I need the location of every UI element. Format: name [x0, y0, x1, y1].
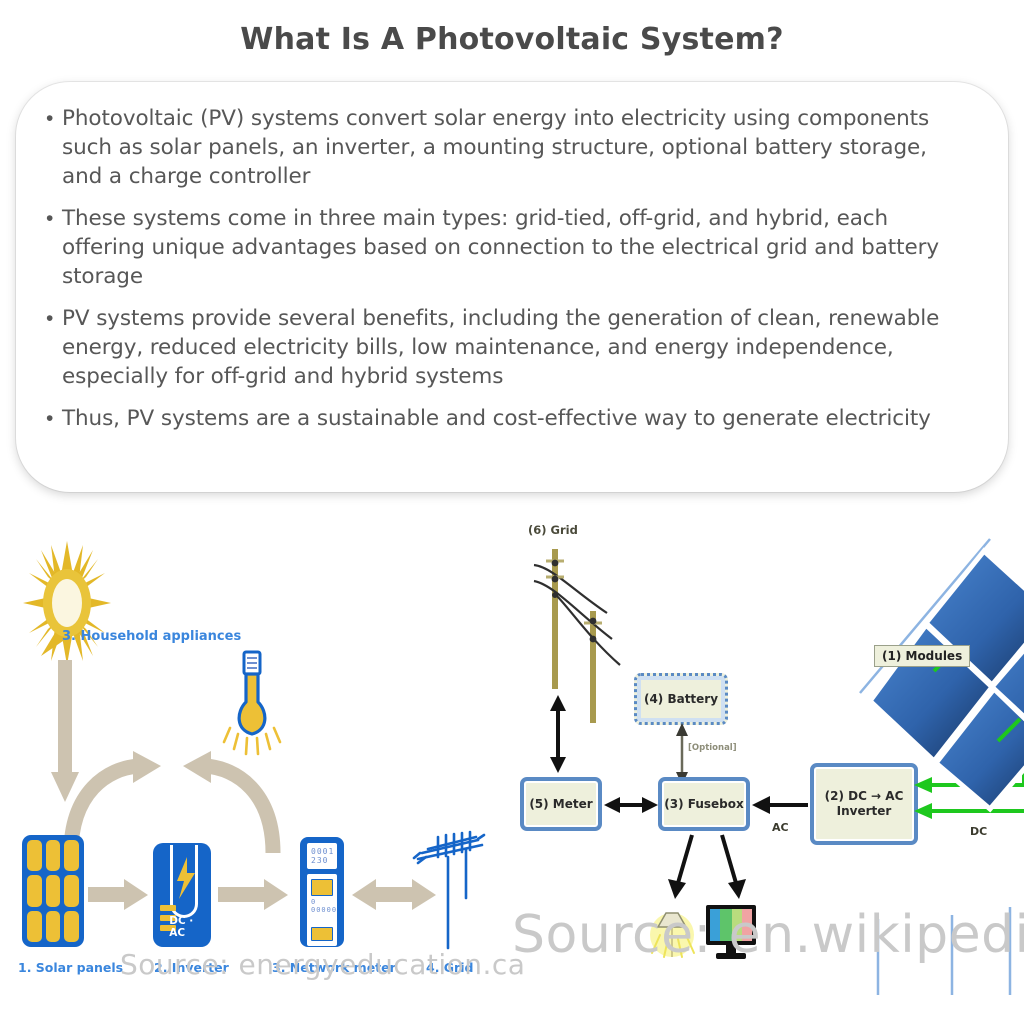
label-grid-node: (6) Grid: [528, 523, 578, 537]
panel-cell: [46, 840, 61, 871]
meter-block: [311, 927, 333, 941]
page-root: What Is A Photovoltaic System? • Photovo…: [0, 0, 1024, 1024]
list-item: • These systems come in three main types…: [46, 204, 972, 291]
panel-cell: [27, 875, 42, 906]
node-meter: (5) Meter: [520, 777, 602, 831]
bullet-marker: •: [46, 404, 62, 433]
bullet-marker: •: [46, 104, 62, 133]
battery-optional-arrow: [672, 723, 692, 785]
bullet-marker: •: [46, 204, 62, 233]
meter-fusebox-arrow: [604, 793, 658, 817]
grid-meter-arrow: [546, 695, 570, 775]
label-optional: [Optional]: [688, 743, 737, 753]
node-fusebox-label: (3) Fusebox: [664, 797, 744, 812]
panel-to-inverter-arrow: [88, 875, 150, 915]
utility-pole-icon: [512, 543, 642, 723]
label-modules: (1) Modules: [874, 645, 970, 667]
inverter-fusebox-arrow: [752, 793, 810, 817]
list-item: • PV systems provide several benefits, i…: [46, 304, 972, 391]
meter-body: 0 00000: [307, 874, 337, 946]
watermark-wikipedia: Source: en.wikipedia.org: [512, 905, 1024, 965]
inverter-dcac-text: DC · AC: [169, 915, 211, 939]
panel-cell: [27, 840, 42, 871]
meter-digits-secondary: 0 00000: [311, 898, 333, 914]
panel-cell: [64, 911, 79, 942]
bullet-marker: •: [46, 304, 62, 333]
watermark-energyeducation: Source: energyeducation.ca: [120, 948, 525, 981]
inverter-bar: [160, 905, 176, 911]
bullet-text: PV systems provide several benefits, inc…: [62, 304, 972, 391]
panel-cell: [64, 840, 79, 871]
node-battery: (4) Battery: [634, 673, 728, 725]
content-card: • Photovoltaic (PV) systems convert sola…: [16, 82, 1008, 492]
network-meter-icon: 0001 230 0 00000: [300, 837, 344, 947]
antenna-grid-icon: [408, 823, 488, 953]
node-fusebox: (3) Fusebox: [658, 777, 750, 831]
bullet-text: These systems come in three main types: …: [62, 204, 972, 291]
page-title: What Is A Photovoltaic System?: [0, 22, 1024, 57]
meter-display: 0001 230: [307, 843, 337, 869]
list-item: • Thus, PV systems are a sustainable and…: [46, 404, 972, 433]
bullet-text: Photovoltaic (PV) systems convert solar …: [62, 104, 972, 191]
meter-block: [311, 879, 333, 896]
label-solar-panels: 1. Solar panels: [18, 960, 123, 975]
fusebox-loads-arrows: [666, 831, 756, 905]
panel-cell: [27, 911, 42, 942]
node-meter-label: (5) Meter: [529, 797, 592, 812]
panel-cell: [64, 875, 79, 906]
label-household-appliances: 3. Household appliances: [62, 629, 241, 644]
bolt-icon: [175, 857, 197, 901]
panel-cell: [46, 875, 61, 906]
sun-icon: [12, 538, 122, 668]
node-battery-label: (4) Battery: [644, 692, 718, 706]
bullet-list: • Photovoltaic (PV) systems convert sola…: [16, 82, 1008, 433]
lightbulb-icon: [222, 650, 282, 760]
solar-panel-icon: [22, 835, 84, 947]
list-item: • Photovoltaic (PV) systems convert sola…: [46, 104, 972, 191]
bullet-text: Thus, PV systems are a sustainable and c…: [62, 404, 972, 433]
label-ac: AC: [772, 821, 789, 834]
figure-energyeducation-diagram: 3. Household appliances: [0, 505, 512, 1024]
inverter-to-meter-arrow: [218, 875, 290, 915]
inverter-icon: DC · AC: [153, 843, 211, 947]
panel-cell: [46, 911, 61, 942]
